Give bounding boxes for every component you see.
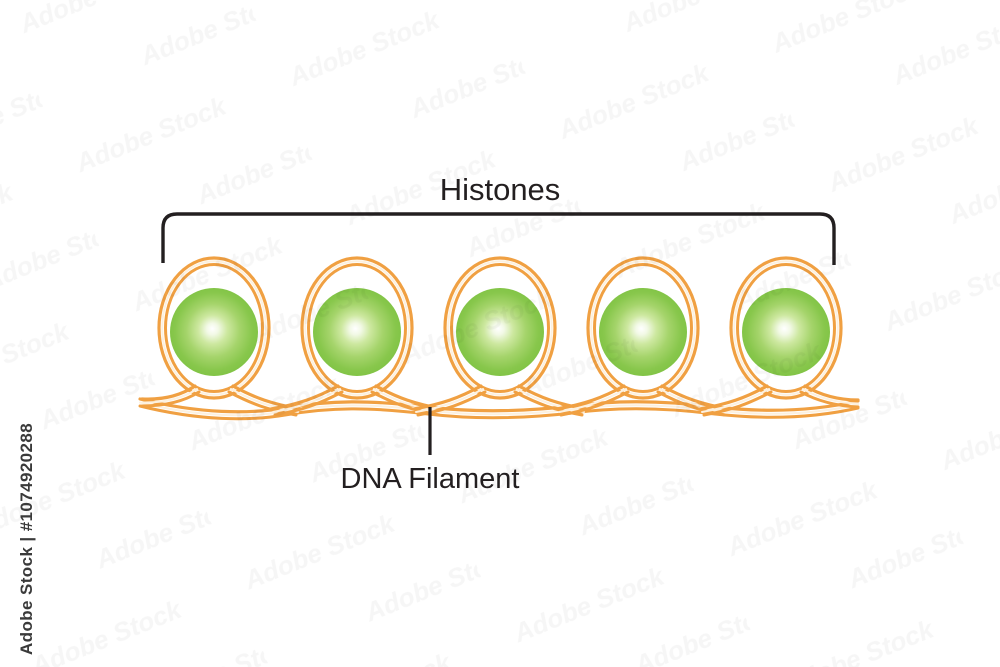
watermark-vertical: Adobe Stock | #1074920288	[17, 423, 36, 655]
watermark-credit-text: Adobe Stock | #1074920288	[17, 423, 36, 655]
histone-dna-diagram: Adobe Stock Adobe Stock Histones	[0, 0, 1000, 667]
diagram-canvas: Adobe Stock Adobe Stock Histones	[0, 0, 1000, 667]
watermark-pattern	[0, 0, 1000, 667]
